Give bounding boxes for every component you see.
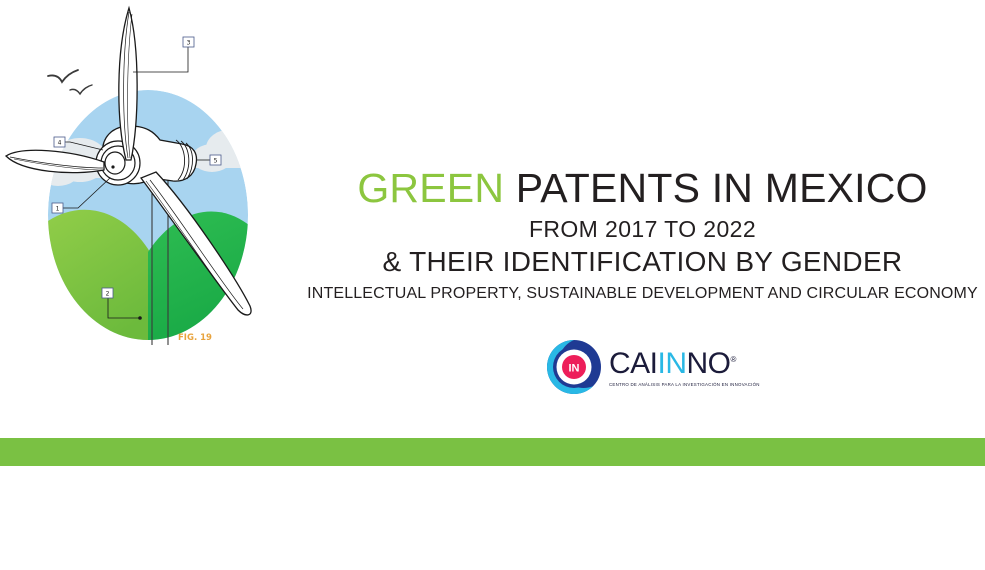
title-block: GREEN PATENTS IN MEXICO FROM 2017 TO 202… — [300, 168, 985, 302]
caiinno-logo: IN CAIINNO® CENTRO DE ANÁLISIS PARA LA I… — [546, 338, 736, 396]
green-accent-band — [0, 438, 985, 466]
emblem-label: IN — [569, 363, 580, 375]
subtitle-gender: & THEIR IDENTIFICATION BY GENDER — [300, 248, 985, 276]
svg-text:1: 1 — [56, 206, 60, 213]
caiinno-wordmark: CAIINNO® — [609, 349, 760, 379]
wind-turbine-illustration: 3 4 5 1 2 FIG. 19 — [0, 0, 300, 350]
subtitle-topics: INTELLECTUAL PROPERTY, SUSTAINABLE DEVEL… — [300, 286, 985, 302]
title-slide: 3 4 5 1 2 FIG. 19 GREEN PATENTS IN MEXIC… — [0, 0, 985, 570]
svg-text:4: 4 — [58, 140, 62, 147]
hill-right — [148, 211, 268, 350]
caiinno-tagline: CENTRO DE ANÁLISIS PARA LA INVESTIGACIÓN… — [609, 382, 760, 387]
subtitle-period: FROM 2017 TO 2022 — [300, 218, 985, 241]
svg-text:2: 2 — [106, 291, 110, 298]
svg-text:3: 3 — [187, 40, 191, 47]
registered-mark-icon: ® — [731, 355, 736, 364]
wordmark-in: IN — [658, 347, 687, 380]
bird-icon — [48, 70, 92, 94]
title-rest: PATENTS IN MEXICO — [504, 165, 928, 211]
footer-whitespace — [0, 466, 985, 570]
page-title: GREEN PATENTS IN MEXICO — [300, 168, 985, 209]
caiinno-text-block: CAIINNO® CENTRO DE ANÁLISIS PARA LA INVE… — [609, 349, 760, 387]
figure-caption: FIG. 19 — [178, 333, 212, 343]
hill-left — [20, 210, 150, 350]
wordmark-cai: CAI — [609, 347, 658, 380]
caiinno-emblem-icon: IN — [546, 339, 602, 395]
svg-text:5: 5 — [214, 158, 218, 165]
wordmark-no: NO — [687, 347, 731, 380]
turbine-blade-top — [119, 8, 137, 160]
title-green-word: GREEN — [357, 165, 504, 211]
